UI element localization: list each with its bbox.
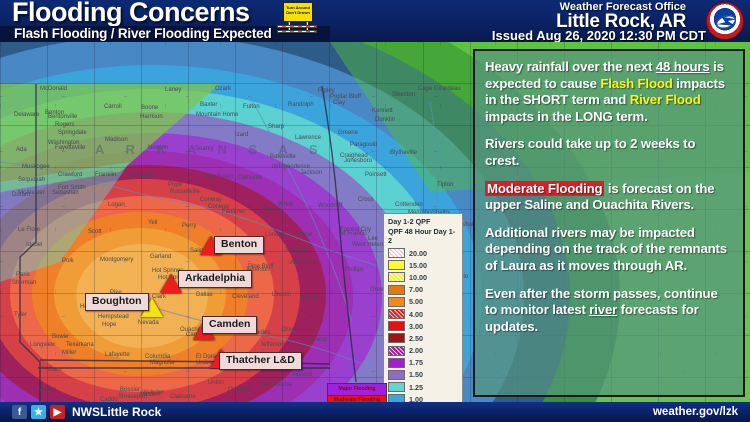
qpf-legend-value: 1.00 bbox=[409, 395, 423, 402]
social-handle: NWSLittle Rock bbox=[72, 405, 161, 419]
map-label: Fayetteville bbox=[55, 145, 85, 151]
map-label: Boone bbox=[141, 105, 158, 111]
map-label: Scott bbox=[88, 229, 102, 235]
p5-river: river bbox=[589, 302, 617, 317]
map-label: Tipton bbox=[437, 182, 453, 188]
map-label: Delaware bbox=[14, 112, 39, 118]
map-label: Texarkana bbox=[66, 342, 94, 348]
map-label: Jefferson bbox=[260, 342, 285, 348]
map-label: Rogers bbox=[55, 122, 74, 128]
map-label: Le Flore bbox=[18, 227, 40, 233]
map-label: Ada bbox=[16, 147, 27, 153]
map-label: Fort Smith bbox=[58, 185, 86, 191]
panel-paragraph-2: Rivers could take up to 2 weeks to crest… bbox=[485, 136, 733, 169]
map-label: Phillips bbox=[345, 267, 364, 273]
map-label: Laney bbox=[165, 87, 181, 93]
map-label: Izard bbox=[235, 132, 248, 138]
map-label: Claiborne bbox=[170, 394, 196, 400]
map-label: Lincoln bbox=[272, 292, 291, 298]
city-label-arkadelphia: Arkadelphia bbox=[178, 270, 252, 288]
qpf-legend-value: 7.00 bbox=[409, 285, 423, 294]
map-label: Searcy bbox=[262, 207, 281, 213]
map-label: McAlester bbox=[18, 190, 45, 196]
map-label: Baxter bbox=[200, 102, 217, 108]
qpf-legend-value: 2.00 bbox=[409, 346, 423, 355]
map-label: Desha bbox=[300, 295, 317, 301]
qpf-legend-value: 1.25 bbox=[409, 383, 423, 392]
map-label: Prairie bbox=[295, 232, 312, 238]
map-label: Cross bbox=[358, 197, 374, 203]
map-label: Pope bbox=[168, 182, 182, 188]
map-label: Blytheville bbox=[390, 150, 417, 156]
map-label: Poplar Bluff bbox=[330, 94, 361, 100]
map-label: Conway bbox=[208, 204, 230, 210]
qpf-legend-row: 1.00 bbox=[388, 393, 458, 402]
map-label: Jackson bbox=[300, 170, 322, 176]
issued-timestamp: Issued Aug 26, 2020 12:30 PM CDT bbox=[492, 28, 706, 42]
qpf-legend-value: 1.75 bbox=[409, 358, 423, 367]
panel-paragraph-5: Even after the storm passes, continue to… bbox=[485, 286, 733, 336]
qpf-legend-title: Day 1-2 QPF bbox=[388, 217, 458, 226]
map-label: Muskogee bbox=[22, 164, 50, 170]
youtube-icon[interactable]: ▶ bbox=[50, 405, 65, 419]
qpf-legend-value: 20.00 bbox=[409, 249, 427, 258]
qpf-legend-swatch bbox=[388, 285, 405, 295]
p1-a: Heavy rainfall over the next bbox=[485, 59, 656, 74]
qpf-legend-value: 5.00 bbox=[409, 297, 423, 306]
qpf-legend-swatch bbox=[388, 321, 405, 331]
map-label: Madison bbox=[105, 137, 128, 143]
map-label: Russellville bbox=[170, 189, 200, 195]
qpf-legend-row: 5.00 bbox=[388, 296, 458, 308]
map-label: Marion bbox=[38, 387, 56, 393]
map-label: Longview bbox=[30, 342, 55, 348]
p1-river-flood: River Flood bbox=[630, 92, 701, 107]
footer-bar: f ★ ▶ NWSLittle Rock weather.gov/lzk bbox=[0, 402, 750, 422]
qpf-legend-swatch bbox=[388, 309, 405, 319]
sign-board-label: Turn Around Don't Drown bbox=[283, 2, 313, 22]
qpf-legend-value: 2.50 bbox=[409, 334, 423, 343]
map-label: Jonesboro bbox=[344, 158, 372, 164]
map-label: Idabel bbox=[26, 242, 42, 248]
map-label: Dunklin bbox=[375, 117, 395, 123]
map-label: Harrison bbox=[140, 114, 163, 120]
map-label: Miller bbox=[62, 350, 76, 356]
map-label: McDonald bbox=[40, 86, 67, 92]
p1-flash-flood: Flash Flood bbox=[600, 76, 672, 91]
map-label: Fulton bbox=[243, 104, 260, 110]
qpf-legend-swatch bbox=[388, 370, 405, 380]
map-label: Cass bbox=[48, 367, 62, 373]
website-url[interactable]: weather.gov/lzk bbox=[653, 405, 738, 419]
map-label: Yell bbox=[148, 220, 157, 226]
map-label: Johnson bbox=[130, 173, 153, 179]
header-bar: Flooding Concerns Flash Flooding / River… bbox=[0, 0, 750, 42]
qpf-legend-swatch bbox=[388, 333, 405, 343]
qpf-legend-swatch bbox=[388, 272, 405, 282]
turn-around-dont-drown-sign-icon: Turn Around Don't Drown bbox=[275, 2, 319, 34]
qpf-legend-row: 2.50 bbox=[388, 332, 458, 344]
map-label: Nevada bbox=[138, 320, 159, 326]
nws-logo-icon bbox=[706, 2, 744, 40]
map-label: Ouachita bbox=[228, 387, 252, 393]
qpf-legend-swatch bbox=[388, 382, 405, 392]
qpf-legend-swatch bbox=[388, 394, 405, 402]
qpf-legend-row: 10.00 bbox=[388, 271, 458, 283]
map-label: Paris bbox=[16, 272, 30, 278]
facebook-icon[interactable]: f bbox=[12, 405, 27, 419]
map-label: Springdale bbox=[58, 130, 87, 136]
map-label: Monroe bbox=[292, 372, 312, 378]
map-label: Ozark bbox=[215, 86, 231, 92]
map-label: Dallas bbox=[196, 292, 213, 298]
map-label: Lafayette bbox=[105, 352, 130, 358]
twitter-icon[interactable]: ★ bbox=[31, 405, 46, 419]
map-label: Clay bbox=[333, 100, 345, 106]
map-label: Cleburne bbox=[238, 175, 262, 181]
map-label: Montgomery bbox=[100, 257, 133, 263]
map-label: Carroll bbox=[104, 104, 122, 110]
map-label: Kennett bbox=[372, 108, 393, 114]
qpf-legend-row: 3.00 bbox=[388, 320, 458, 332]
map-label: Sequoyah bbox=[18, 177, 45, 183]
map-label: Minden bbox=[140, 392, 160, 398]
qpf-legend-swatch bbox=[388, 358, 405, 368]
map-label: Searcy bbox=[195, 146, 214, 152]
map-label: Van Buren bbox=[205, 174, 233, 180]
map-label: Bossier bbox=[120, 387, 140, 393]
map-label: Hope bbox=[102, 322, 116, 328]
p3-moderate-flooding: Moderate Flooding bbox=[485, 181, 604, 196]
map-label: Union bbox=[208, 380, 224, 386]
map-label: Lawrence bbox=[295, 135, 321, 141]
map-label: Perry bbox=[182, 223, 196, 229]
map-label: Franklin bbox=[95, 172, 116, 178]
map-label: Polk bbox=[62, 258, 74, 264]
map-label: Newton bbox=[148, 145, 168, 151]
forecast-text-panel: Heavy rainfall over the next 48 hours is… bbox=[473, 49, 745, 397]
map-label: Forrest City bbox=[340, 227, 371, 233]
qpf-legend-row: 2.00 bbox=[388, 345, 458, 357]
map-label: Morehouse bbox=[262, 382, 292, 388]
qpf-legend-subtitle: QPF 48 Hour Day 1-2 bbox=[388, 227, 458, 245]
qpf-legend-value: 10.00 bbox=[409, 273, 427, 282]
qpf-legend-row: 1.25 bbox=[388, 381, 458, 393]
map-label: Tyler bbox=[14, 312, 27, 318]
map-label: Sikeston bbox=[392, 92, 415, 98]
map-label: Drew bbox=[282, 327, 296, 333]
map-label: Arkansas bbox=[290, 260, 315, 266]
map-label: Randolph bbox=[288, 102, 314, 108]
map-label: Batesville bbox=[270, 154, 296, 160]
qpf-legend-row: 20.00 bbox=[388, 247, 458, 259]
qpf-legend-row: 1.50 bbox=[388, 369, 458, 381]
panel-paragraph-4: Additional rivers may be impacted depend… bbox=[485, 225, 733, 275]
qpf-legend-row: 7.00 bbox=[388, 284, 458, 296]
map-label: Crittenden bbox=[395, 202, 423, 208]
qpf-legend-value: 4.00 bbox=[409, 310, 423, 319]
map-label: Mountain Home bbox=[196, 112, 238, 118]
map-label: Bowie bbox=[52, 334, 68, 340]
flood-stage-row: Major Flooding bbox=[328, 384, 386, 396]
qpf-legend-swatch bbox=[388, 297, 405, 307]
qpf-legend-value: 3.00 bbox=[409, 322, 423, 331]
map-label: Crawford bbox=[58, 172, 82, 178]
map-label: Sherman bbox=[12, 280, 36, 286]
qpf-legend-swatch bbox=[388, 260, 405, 270]
map-label: Paragould bbox=[350, 142, 377, 148]
city-label-camden: Camden bbox=[202, 316, 257, 334]
qpf-legend-value: 1.50 bbox=[409, 370, 423, 379]
map-label: Hempstead bbox=[98, 314, 129, 320]
qpf-legend-swatch bbox=[388, 248, 405, 258]
panel-paragraph-1: Heavy rainfall over the next 48 hours is… bbox=[485, 59, 733, 125]
city-label-benton: Benton bbox=[214, 236, 264, 254]
map-label: Cape Girardeau bbox=[418, 86, 461, 92]
qpf-legend-row: 4.00 bbox=[388, 308, 458, 320]
map-label: Chicot bbox=[310, 337, 327, 343]
weather-graphic: Flooding Concerns Flash Flooding / River… bbox=[0, 0, 750, 422]
map-label: Stuttgart bbox=[285, 247, 308, 253]
map-label: Garland bbox=[150, 254, 171, 260]
qpf-legend-swatch bbox=[388, 346, 405, 356]
panel-paragraph-3: Moderate Flooding is forecast on the upp… bbox=[485, 181, 733, 214]
qpf-legend-row: 1.75 bbox=[388, 357, 458, 369]
city-label-thatcher-l-d: Thatcher L&D bbox=[219, 352, 302, 370]
map-label: Woodruff bbox=[318, 203, 342, 209]
map-label: Conway bbox=[200, 197, 222, 203]
map-label: Cleveland bbox=[232, 294, 259, 300]
page-title: Flooding Concerns bbox=[12, 0, 250, 28]
map-label: West Helena bbox=[352, 242, 386, 248]
map-label: Magnolia bbox=[150, 360, 174, 366]
flood-stage-legend: Major FloodingModerate FloodingMinor Flo… bbox=[327, 383, 387, 402]
map-label: Bentonville bbox=[48, 114, 77, 120]
map-label: Lonoke bbox=[265, 232, 285, 238]
page-subtitle: Flash Flooding / River Flooding Expected bbox=[14, 26, 272, 42]
map-label: Poinsett bbox=[365, 172, 387, 178]
p1-48-hours: 48 hours bbox=[656, 59, 710, 74]
map-label: Logan bbox=[108, 202, 125, 208]
p1-g: impacts in the LONG term. bbox=[485, 109, 648, 124]
map-label: Greene bbox=[338, 130, 358, 136]
qpf-legend-row: 15.00 bbox=[388, 259, 458, 271]
qpf-legend: Day 1-2 QPF QPF 48 Hour Day 1-2 20.0015.… bbox=[383, 213, 463, 402]
map-label: Sharp bbox=[268, 124, 284, 130]
city-label-boughton: Boughton bbox=[85, 293, 149, 311]
qpf-legend-value: 15.00 bbox=[409, 261, 427, 270]
